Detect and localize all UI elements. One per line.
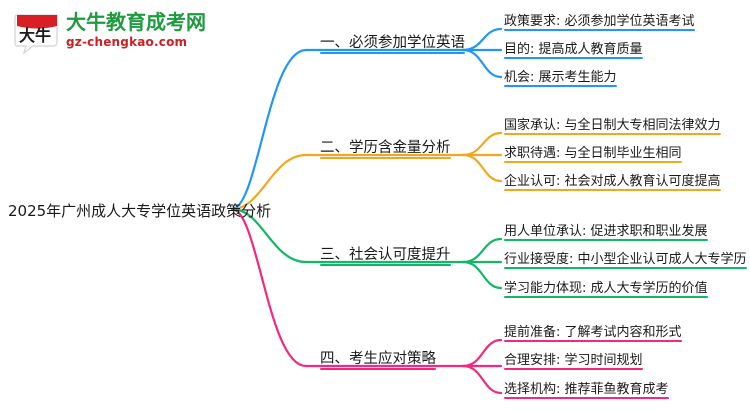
leaf-node-1-2-label: 目的: 提高成人教育质量 <box>504 38 643 57</box>
leaf-node-2-2[interactable]: 求职待遇: 与全日制毕业生相同 <box>504 142 682 166</box>
leaf-node-1-1[interactable]: 政策要求: 必须参加学位英语考试 <box>504 10 695 34</box>
wire-branch-3-child-3 <box>463 262 501 288</box>
leaf-3-1-underline <box>504 239 708 241</box>
wire-branch-2-child-1 <box>463 133 501 155</box>
mindmap-page: 大牛 大牛教育成考网 gz-chengkao.com <box>0 0 750 410</box>
leaf-1-3-underline <box>504 85 617 87</box>
wire-branch-4-child-1 <box>463 340 501 366</box>
wire-root-branch-4 <box>232 209 306 366</box>
leaf-2-1-underline <box>504 133 721 135</box>
leaf-3-2-underline <box>504 267 747 269</box>
leaf-4-3-underline <box>504 397 669 399</box>
wire-branch-1-child-3 <box>463 50 501 77</box>
leaf-node-4-2[interactable]: 合理安排: 学习时间规划 <box>504 349 643 373</box>
branch-node-3-label: 三、社会认可度提升 <box>320 243 451 264</box>
branch-node-2-label: 二、学历含金量分析 <box>320 136 451 157</box>
leaf-node-4-1[interactable]: 提前准备: 了解考试内容和形式 <box>504 321 682 345</box>
leaf-3-3-underline <box>504 296 708 298</box>
wire-branch-1-child-1 <box>463 29 501 50</box>
leaf-node-4-2-label: 合理安排: 学习时间规划 <box>504 349 643 368</box>
branch-node-1[interactable]: 一、必须参加学位英语 <box>320 31 465 57</box>
branch-node-4-label: 四、考生应对策略 <box>320 347 436 368</box>
leaf-node-3-2-label: 行业接受度: 中小型企业认可成人大专学历 <box>504 248 747 267</box>
leaf-node-1-3-label: 机会: 展示考生能力 <box>504 66 617 85</box>
wire-branch-4-child-3 <box>463 366 501 393</box>
wire-branch-2-child-3 <box>463 155 501 181</box>
leaf-node-3-3[interactable]: 学习能力体现: 成人大专学历的价值 <box>504 277 708 301</box>
leaf-2-2-underline <box>504 161 682 163</box>
root-node[interactable]: 2025年广州成人大专学位英语政策分析 <box>8 200 271 221</box>
leaf-node-1-1-label: 政策要求: 必须参加学位英语考试 <box>504 10 695 29</box>
leaf-node-4-3[interactable]: 选择机构: 推荐菲鱼教育成考 <box>504 378 669 402</box>
branch-1-underline <box>320 52 465 54</box>
leaf-4-2-underline <box>504 368 643 370</box>
branch-node-4[interactable]: 四、考生应对策略 <box>320 347 436 373</box>
branch-2-underline <box>320 157 451 159</box>
leaf-node-3-1[interactable]: 用人单位承认: 促进求职和职业发展 <box>504 220 708 244</box>
leaf-1-1-underline <box>504 29 695 31</box>
branch-node-2[interactable]: 二、学历含金量分析 <box>320 136 451 162</box>
branch-node-3[interactable]: 三、社会认可度提升 <box>320 243 451 269</box>
leaf-2-3-underline <box>504 189 721 191</box>
wire-root-branch-1 <box>232 50 306 209</box>
branch-3-underline <box>320 264 451 266</box>
leaf-4-1-underline <box>504 340 682 342</box>
leaf-node-2-3[interactable]: 企业认可: 社会对成人教育认可度提高 <box>504 170 721 194</box>
root-node-label: 2025年广州成人大专学位英语政策分析 <box>8 200 271 221</box>
leaf-node-1-3[interactable]: 机会: 展示考生能力 <box>504 66 617 90</box>
leaf-node-2-2-label: 求职待遇: 与全日制毕业生相同 <box>504 142 682 161</box>
leaf-node-4-1-label: 提前准备: 了解考试内容和形式 <box>504 321 682 340</box>
leaf-node-3-2[interactable]: 行业接受度: 中小型企业认可成人大专学历 <box>504 248 747 272</box>
wire-branch-3-child-1 <box>463 239 501 262</box>
leaf-node-2-3-label: 企业认可: 社会对成人教育认可度提高 <box>504 170 721 189</box>
branch-node-1-label: 一、必须参加学位英语 <box>320 31 465 52</box>
leaf-node-1-2[interactable]: 目的: 提高成人教育质量 <box>504 38 643 62</box>
leaf-node-2-1-label: 国家承认: 与全日制大专相同法律效力 <box>504 114 721 133</box>
leaf-1-2-underline <box>504 57 643 59</box>
leaf-node-2-1[interactable]: 国家承认: 与全日制大专相同法律效力 <box>504 114 721 138</box>
leaf-node-3-1-label: 用人单位承认: 促进求职和职业发展 <box>504 220 708 239</box>
branch-4-underline <box>320 368 436 370</box>
leaf-node-3-3-label: 学习能力体现: 成人大专学历的价值 <box>504 277 708 296</box>
leaf-node-4-3-label: 选择机构: 推荐菲鱼教育成考 <box>504 378 669 397</box>
